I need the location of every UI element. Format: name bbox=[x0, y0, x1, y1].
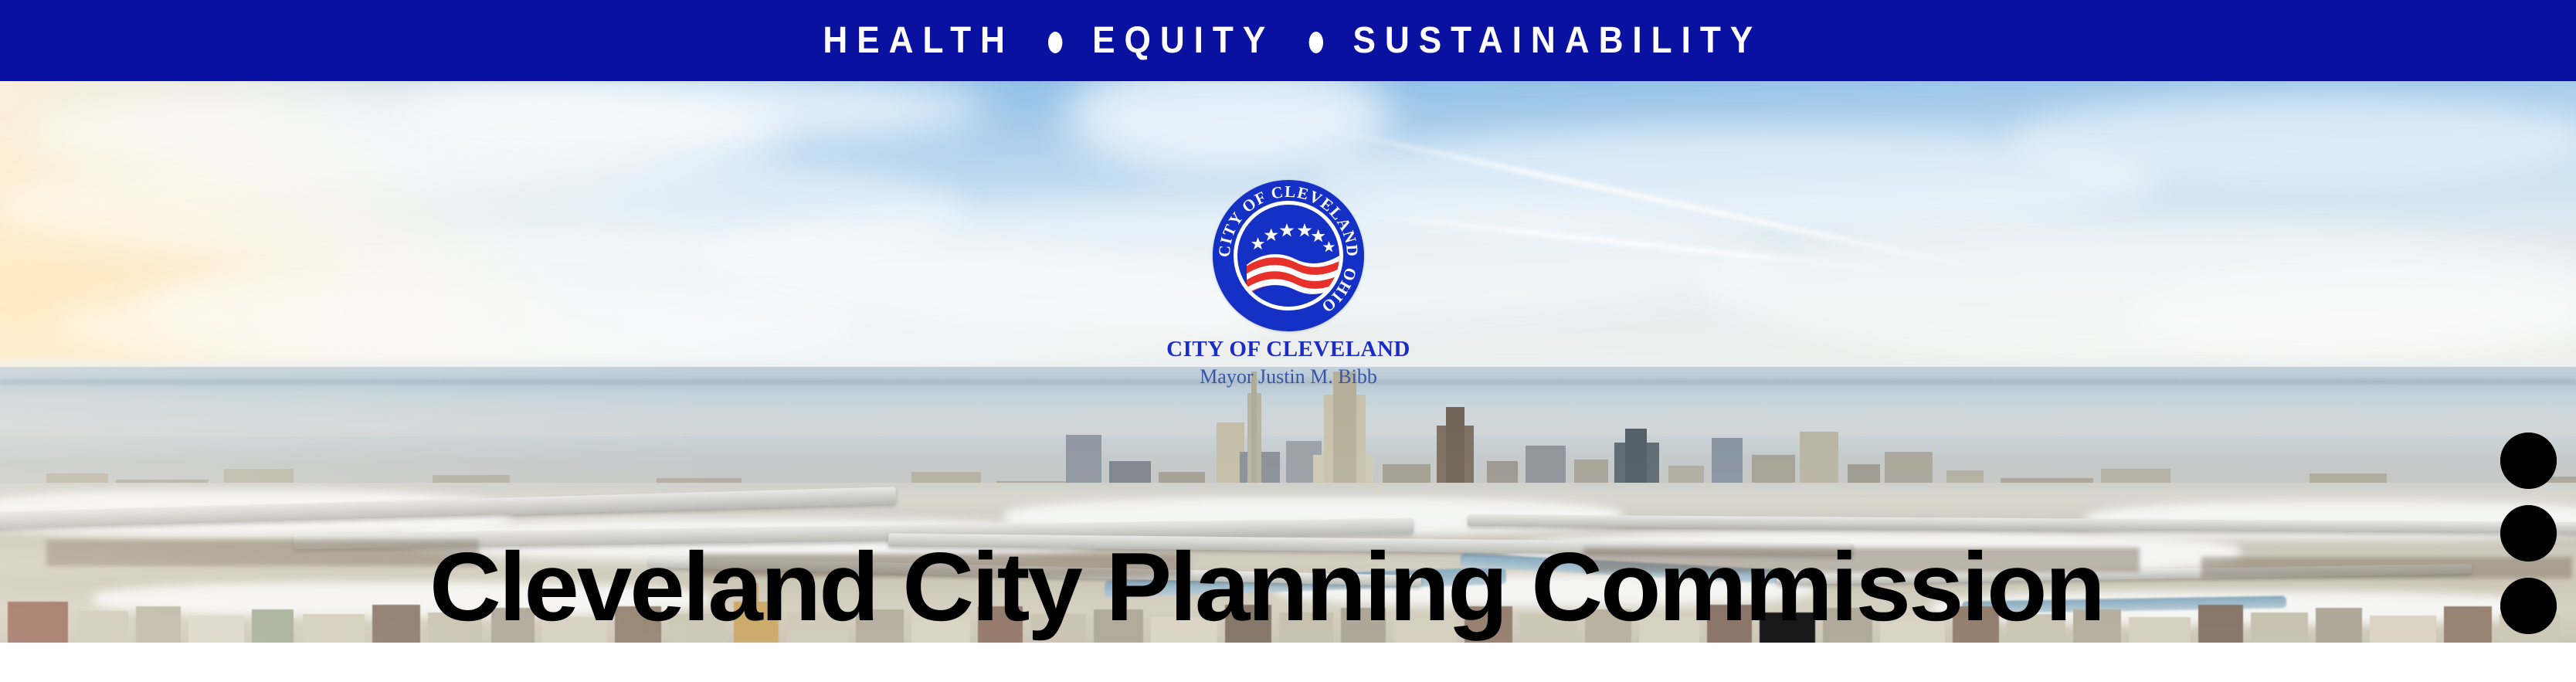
tagline-dot-icon bbox=[1309, 32, 1323, 53]
youtube-icon[interactable] bbox=[2500, 433, 2557, 489]
bottom-white-strip bbox=[0, 643, 2576, 682]
social-links bbox=[2500, 433, 2557, 634]
tagline-word-health: HEALTH bbox=[823, 22, 1015, 59]
top-tagline-banner: HEALTH EQUITY SUSTAINABILITY bbox=[0, 0, 2576, 81]
tagline-text: HEALTH EQUITY SUSTAINABILITY bbox=[814, 22, 1763, 59]
hero-photo: CITY OF CLEVELAND OHIO bbox=[0, 81, 2576, 643]
instagram-icon[interactable] bbox=[2500, 505, 2557, 562]
tagline-word-sustainability: SUSTAINABILITY bbox=[1353, 22, 1763, 59]
seal-inner-disc bbox=[1234, 201, 1343, 310]
page-title: Cleveland City Planning Commission bbox=[429, 538, 2103, 636]
city-of-cleveland-ohio-seal-icon: CITY OF CLEVELAND OHIO bbox=[1213, 180, 1364, 331]
facebook-icon[interactable] bbox=[2500, 578, 2557, 634]
org-name-label: CITY OF CLEVELAND bbox=[1157, 338, 1420, 362]
cloud bbox=[2008, 97, 2576, 182]
cloud bbox=[2124, 266, 2576, 359]
page-root: HEALTH EQUITY SUSTAINABILITY bbox=[0, 0, 2576, 682]
facebook-glyph bbox=[2500, 578, 2557, 634]
tagline-dot-icon bbox=[1048, 32, 1062, 53]
city-logo-block: CITY OF CLEVELAND OHIO bbox=[1157, 180, 1420, 389]
youtube-glyph bbox=[2500, 433, 2557, 489]
tagline-word-equity: EQUITY bbox=[1092, 22, 1274, 59]
instagram-glyph bbox=[2500, 505, 2557, 562]
seal-flag-icon bbox=[1237, 205, 1343, 310]
cloud bbox=[46, 278, 857, 371]
mayor-name-label: Mayor Justin M. Bibb bbox=[1157, 365, 1420, 390]
